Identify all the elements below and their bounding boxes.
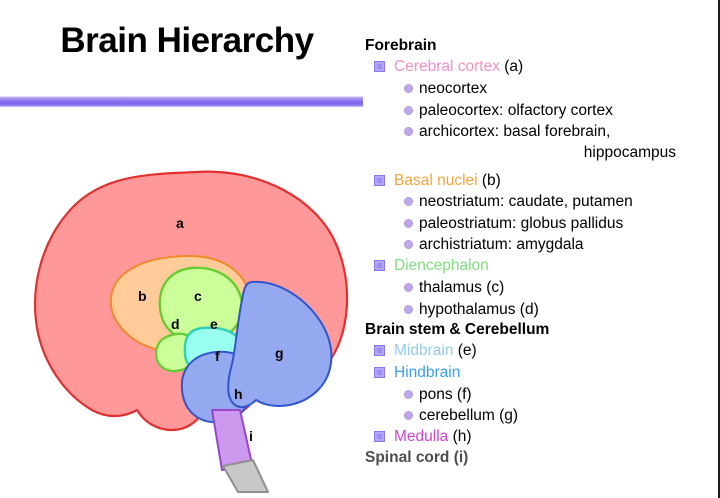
- round-bullet-icon: [404, 305, 413, 314]
- round-bullet-icon: [404, 411, 413, 420]
- list-item-cerebellum[interactable]: cerebellum (g): [363, 405, 715, 426]
- list-item-paleostriatum[interactable]: paleostriatum: globus pallidus: [363, 213, 715, 234]
- region-spinal-cord: [223, 460, 268, 492]
- square-bullet-icon: [374, 367, 385, 378]
- heading-forebrain: Forebrain: [363, 36, 715, 56]
- list-item-hindbrain[interactable]: Hindbrain: [363, 362, 715, 384]
- list-item-archicortex[interactable]: archicortex: basal forebrain,: [363, 121, 715, 142]
- label-paleocortex: paleocortex: olfactory cortex: [419, 102, 613, 119]
- label-archicortex-continuation: hippocampus: [363, 142, 715, 163]
- list-item-basal-nuclei[interactable]: Basal nuclei (b): [363, 170, 715, 192]
- label-hindbrain: Hindbrain: [394, 364, 460, 381]
- label-medulla: Medulla: [394, 428, 448, 445]
- heading-spinal-cord: Spinal cord (i): [363, 448, 715, 468]
- label-hypothalamus: hypothalamus (d): [419, 301, 539, 318]
- round-bullet-icon: [404, 84, 413, 93]
- label-midbrain: Midbrain: [394, 342, 453, 359]
- round-bullet-icon: [404, 197, 413, 206]
- list-item-thalamus[interactable]: thalamus (c): [363, 277, 715, 298]
- square-bullet-icon: [374, 431, 385, 442]
- square-bullet-icon: [374, 175, 385, 186]
- list-item-neocortex[interactable]: neocortex: [363, 78, 715, 99]
- tag-midbrain: (e): [453, 342, 476, 359]
- tag-cerebral-cortex: (a): [500, 58, 523, 75]
- list-item-paleocortex[interactable]: paleocortex: olfactory cortex: [363, 100, 715, 121]
- label-archistriatum: archistriatum: amygdala: [419, 236, 584, 253]
- round-bullet-icon: [404, 106, 413, 115]
- outline-list: Forebrain Cerebral cortex (a) neocortex …: [363, 36, 715, 469]
- label-thalamus: thalamus (c): [419, 279, 504, 296]
- label-neostriatum: neostriatum: caudate, putamen: [419, 193, 633, 210]
- label-pons: pons (f): [419, 386, 472, 403]
- square-bullet-icon: [374, 345, 385, 356]
- list-item-medulla[interactable]: Medulla (h): [363, 426, 715, 448]
- label-basal-nuclei: Basal nuclei: [394, 172, 478, 189]
- label-archicortex: archicortex: basal forebrain,: [419, 123, 610, 140]
- brain-diagram-svg: [16, 158, 364, 494]
- round-bullet-icon: [404, 390, 413, 399]
- round-bullet-icon: [404, 283, 413, 292]
- round-bullet-icon: [404, 127, 413, 136]
- list-item-cerebral-cortex[interactable]: Cerebral cortex (a): [363, 56, 715, 78]
- list-item-diencephalon[interactable]: Diencephalon: [363, 255, 715, 277]
- label-cerebellum: cerebellum (g): [419, 407, 518, 424]
- list-item-archistriatum[interactable]: archistriatum: amygdala: [363, 234, 715, 255]
- tag-basal-nuclei: (b): [478, 172, 501, 189]
- square-bullet-icon: [374, 61, 385, 72]
- round-bullet-icon: [404, 219, 413, 228]
- label-neocortex: neocortex: [419, 80, 487, 97]
- list-item-hypothalamus[interactable]: hypothalamus (d): [363, 299, 715, 320]
- label-diencephalon: Diencephalon: [394, 257, 489, 274]
- title-divider-bar: [0, 96, 363, 107]
- tag-medulla: (h): [448, 428, 471, 445]
- page-title: Brain Hierarchy: [22, 22, 352, 61]
- label-paleostriatum: paleostriatum: globus pallidus: [419, 215, 623, 232]
- list-item-neostriatum[interactable]: neostriatum: caudate, putamen: [363, 191, 715, 212]
- list-item-pons[interactable]: pons (f): [363, 384, 715, 405]
- slide-canvas: Brain Hierarchy a b c d: [0, 0, 720, 498]
- label-cerebral-cortex: Cerebral cortex: [394, 58, 500, 75]
- brain-hierarchy-diagram: a b c d e f g h i: [16, 158, 364, 494]
- round-bullet-icon: [404, 240, 413, 249]
- list-item-midbrain[interactable]: Midbrain (e): [363, 340, 715, 362]
- square-bullet-icon: [374, 260, 385, 271]
- heading-brain-stem-cerebellum: Brain stem & Cerebellum: [363, 320, 715, 340]
